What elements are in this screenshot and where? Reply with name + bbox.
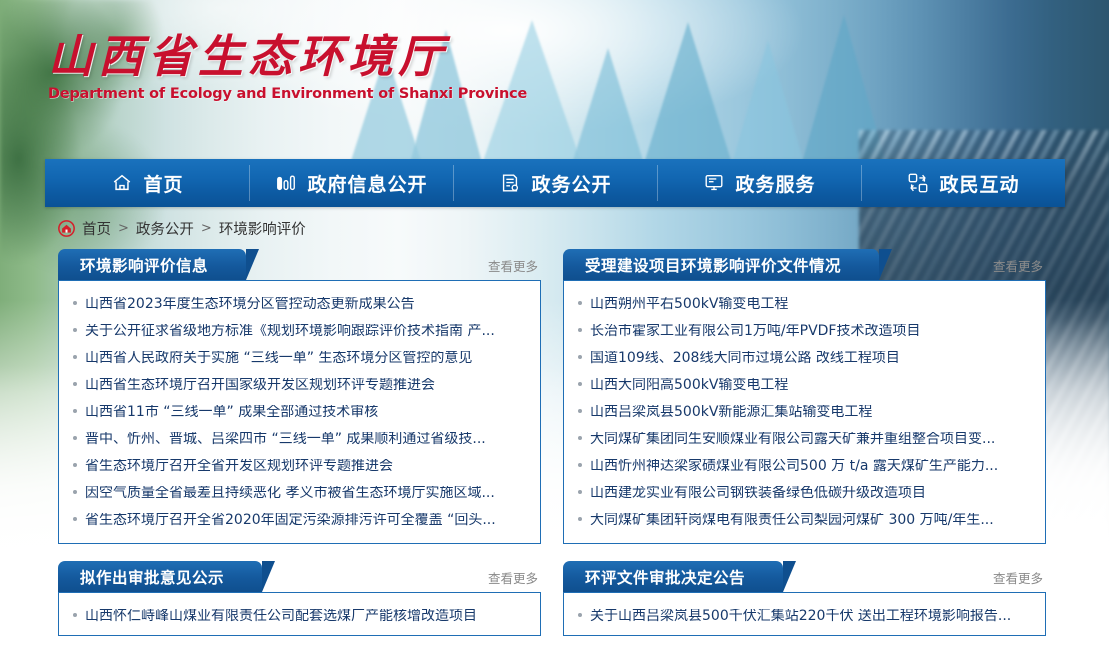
breadcrumb-section[interactable]: 政务公开 <box>136 218 194 239</box>
list-item[interactable]: 晋中、忻州、晋城、吕梁四市 “三线一单” 成果顺利通过省级技... <box>73 425 526 452</box>
panel-header: 受理建设项目环境影响评价文件情况 查看更多 <box>563 249 1046 280</box>
nav-item-government-info-disclosure[interactable]: 政府信息公开 <box>249 159 453 207</box>
list-item[interactable]: 国道109线、208线大同市过境公路 改线工程项目 <box>578 344 1031 371</box>
bullet-icon <box>73 382 77 386</box>
bullet-icon <box>578 436 582 440</box>
panel-header: 拟作出审批意见公示 查看更多 <box>58 561 541 592</box>
nav-item-home[interactable]: 首页 <box>45 159 249 207</box>
list-item[interactable]: 山西怀仁峙峰山煤业有限责任公司配套选煤厂产能核增改造项目 <box>73 602 526 629</box>
breadcrumb-separator-2: > <box>201 221 212 236</box>
panel-title-accepted-eia-documents[interactable]: 受理建设项目环境影响评价文件情况 <box>563 249 879 280</box>
nav-label-government-info-disclosure: 政府信息公开 <box>307 170 427 197</box>
list-item[interactable]: 山西省2023年度生态环境分区管控动态更新成果公告 <box>73 290 526 317</box>
list-item[interactable]: 山西省生态环境厅召开国家级开发区规划环评专题推进会 <box>73 371 526 398</box>
site-title-chinese: 山西省生态环境厅 <box>48 30 527 83</box>
panel-eia-information: 环境影响评价信息 查看更多 山西省2023年度生态环境分区管控动态更新成果公告 … <box>58 249 541 544</box>
panel-body: 山西省2023年度生态环境分区管控动态更新成果公告 关于公开征求省级地方标准《规… <box>58 280 541 544</box>
bullet-icon <box>73 409 77 413</box>
bar-chart-icon <box>274 171 298 195</box>
list-item[interactable]: 山西大同阳高500kV输变电工程 <box>578 371 1031 398</box>
bullet-icon <box>578 463 582 467</box>
bullet-icon <box>73 517 77 521</box>
bullet-icon <box>578 355 582 359</box>
list-item[interactable]: 山西忻州神达梁家碛煤业有限公司500 万 t/a 露天煤矿生产能力... <box>578 452 1031 479</box>
breadcrumb-separator-1: > <box>118 221 129 236</box>
nav-item-government-services[interactable]: 政务服务 <box>657 159 861 207</box>
panel-body: 山西怀仁峙峰山煤业有限责任公司配套选煤厂产能核增改造项目 <box>58 592 541 636</box>
list-item[interactable]: 大同煤矿集团轩岗煤电有限责任公司梨园河煤矿 300 万吨/年生... <box>578 506 1031 533</box>
panel-grid: 环境影响评价信息 查看更多 山西省2023年度生态环境分区管控动态更新成果公告 … <box>45 249 1065 653</box>
list-item[interactable]: 山西朔州平右500kV输变电工程 <box>578 290 1031 317</box>
list-item[interactable]: 关于山西吕梁岚县500千伏汇集站220千伏 送出工程环境影响报告... <box>578 602 1031 629</box>
panel-title-approval-decision-announcement[interactable]: 环评文件审批决定公告 <box>563 561 783 592</box>
bullet-icon <box>73 463 77 467</box>
panel-title-eia-information[interactable]: 环境影响评价信息 <box>58 249 246 280</box>
list-item[interactable]: 山西吕梁岚县500kV新能源汇集站输变电工程 <box>578 398 1031 425</box>
panel-body: 关于山西吕梁岚县500千伏汇集站220千伏 送出工程环境影响报告... <box>563 592 1046 636</box>
nav-label-home: 首页 <box>143 170 183 197</box>
bullet-icon <box>73 328 77 332</box>
list-item[interactable]: 省生态环境厅召开全省开发区规划环评专题推进会 <box>73 452 526 479</box>
more-link-eia-information[interactable]: 查看更多 <box>488 256 541 280</box>
bullet-icon <box>578 382 582 386</box>
site-logo: 山西省生态环境厅 Department of Ecology and Envir… <box>48 30 527 102</box>
panel-proposed-approval-notice: 拟作出审批意见公示 查看更多 山西怀仁峙峰山煤业有限责任公司配套选煤厂产能核增改… <box>58 561 541 636</box>
panel-accepted-eia-documents: 受理建设项目环境影响评价文件情况 查看更多 山西朔州平右500kV输变电工程 长… <box>563 249 1046 544</box>
monitor-icon <box>702 171 726 195</box>
panel-title-proposed-approval-notice[interactable]: 拟作出审批意见公示 <box>58 561 262 592</box>
list-item[interactable]: 山西省11市 “三线一单” 成果全部通过技术审核 <box>73 398 526 425</box>
more-link-proposed-approval-notice[interactable]: 查看更多 <box>488 568 541 592</box>
bullet-icon <box>578 517 582 521</box>
bullet-icon <box>578 409 582 413</box>
nav-item-public-interaction[interactable]: 政民互动 <box>861 159 1065 207</box>
list-item[interactable]: 大同煤矿集团同生安顺煤业有限公司露天矿兼并重组整合项目变... <box>578 425 1031 452</box>
list-item[interactable]: 关于公开征求省级地方标准《规划环境影响跟踪评价技术指南 产... <box>73 317 526 344</box>
interaction-icon <box>906 171 930 195</box>
site-title-english: Department of Ecology and Environment of… <box>48 86 527 102</box>
more-link-approval-decision-announcement[interactable]: 查看更多 <box>993 568 1046 592</box>
home-icon <box>110 171 134 195</box>
panel-body: 山西朔州平右500kV输变电工程 长治市霍家工业有限公司1万吨/年PVDF技术改… <box>563 280 1046 544</box>
bullet-icon <box>73 355 77 359</box>
breadcrumb: 首页 > 政务公开 > 环境影响评价 <box>45 207 1065 249</box>
list-item[interactable]: 山西省人民政府关于实施 “三线一单” 生态环境分区管控的意见 <box>73 344 526 371</box>
document-search-icon <box>498 171 522 195</box>
breadcrumb-home[interactable]: 首页 <box>82 218 111 239</box>
nav-label-affairs-disclosure: 政务公开 <box>531 170 611 197</box>
list-item[interactable]: 省生态环境厅召开全省2020年固定污染源排污许可全覆盖 “回头... <box>73 506 526 533</box>
home-circle-icon <box>58 220 75 237</box>
bullet-icon <box>73 490 77 494</box>
list-item[interactable]: 长治市霍家工业有限公司1万吨/年PVDF技术改造项目 <box>578 317 1031 344</box>
bullet-icon <box>73 301 77 305</box>
bullet-icon <box>578 613 582 617</box>
bullet-icon <box>578 490 582 494</box>
bullet-icon <box>73 436 77 440</box>
nav-item-affairs-disclosure[interactable]: 政务公开 <box>453 159 657 207</box>
bullet-icon <box>73 613 77 617</box>
list-item[interactable]: 因空气质量全省最差且持续恶化 孝义市被省生态环境厅实施区域... <box>73 479 526 506</box>
more-link-accepted-eia-documents[interactable]: 查看更多 <box>993 256 1046 280</box>
bullet-icon <box>578 328 582 332</box>
content-area: 首页 > 政务公开 > 环境影响评价 环境影响评价信息 查看更多 山西省2023… <box>45 207 1065 653</box>
bullet-icon <box>578 301 582 305</box>
panel-header: 环评文件审批决定公告 查看更多 <box>563 561 1046 592</box>
nav-label-government-services: 政务服务 <box>735 170 815 197</box>
list-item[interactable]: 山西建龙实业有限公司钢铁装备绿色低碳升级改造项目 <box>578 479 1031 506</box>
nav-label-public-interaction: 政民互动 <box>939 170 1019 197</box>
panel-header: 环境影响评价信息 查看更多 <box>58 249 541 280</box>
breadcrumb-current: 环境影响评价 <box>219 218 306 239</box>
main-navigation: 首页 政府信息公开 政务公开 <box>45 159 1065 207</box>
panel-approval-decision-announcement: 环评文件审批决定公告 查看更多 关于山西吕梁岚县500千伏汇集站220千伏 送出… <box>563 561 1046 636</box>
